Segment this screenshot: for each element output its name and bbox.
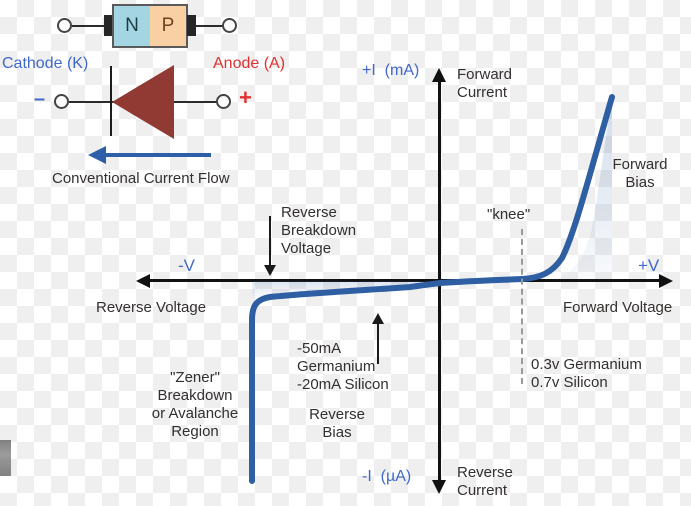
reverse-breakdown-arrow-shaft [269,216,271,267]
reverse-leakage-arrow-shaft [377,322,379,364]
knee-dashed-line [521,229,523,384]
reverse-bias-label: Reverse Bias [292,406,382,442]
edge-artifact [0,440,11,476]
reverse-leakage-current-label: -50mA Germanium -20mA Silicon [297,340,389,394]
threshold-voltages-label: 0.3v Germanium 0.7v Silicon [531,356,642,392]
reverse-breakdown-arrow-head [264,265,276,276]
forward-bias-label: Forward Bias [600,156,680,192]
diode-iv-characteristic-diagram: N P Cathode (K) Anode (A) – + Convention… [0,0,691,506]
knee-label: "knee" [487,206,530,224]
reverse-leakage-arrow-head [372,313,384,324]
reverse-breakdown-voltage-label: Reverse Breakdown Voltage [281,204,391,258]
zener-breakdown-region-label: "Zener" Breakdown or Avalanche Region [131,369,259,441]
